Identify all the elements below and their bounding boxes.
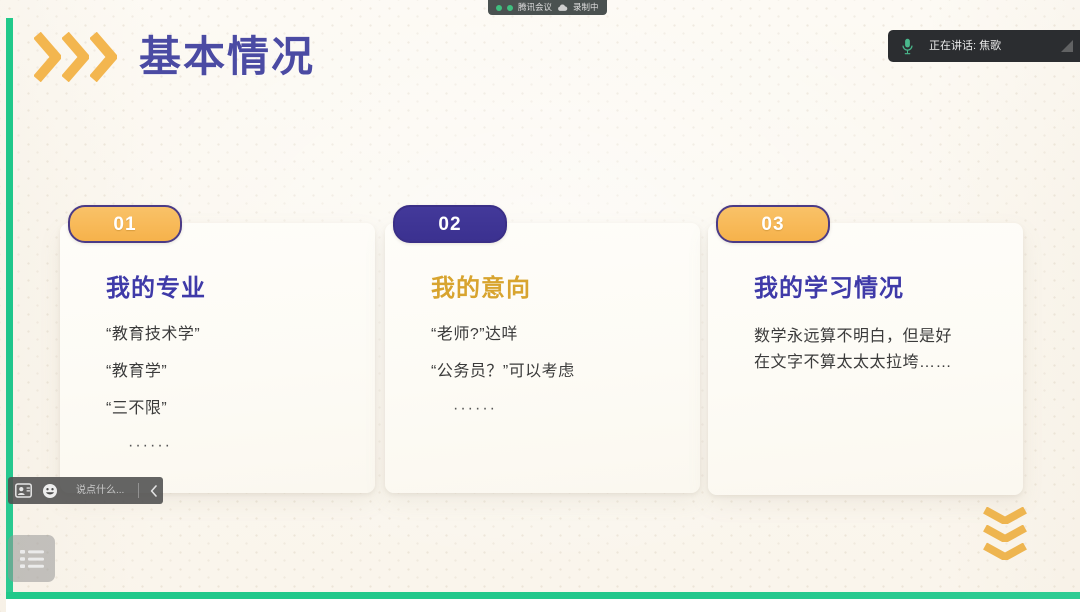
chevron-right-icon: [90, 32, 117, 82]
active-speaker-label: 正在讲话: 焦歌: [929, 41, 1001, 52]
chat-collapse-button[interactable]: [144, 477, 163, 504]
meeting-status-pill[interactable]: 腾讯会议 录制中: [488, 0, 607, 15]
accent-bar-bottom: [6, 592, 1080, 599]
active-speaker-bar: 正在讲话: 焦歌: [888, 30, 1080, 62]
card-number: 03: [761, 215, 784, 234]
chevron-left-icon: [150, 485, 158, 497]
chevron-right-icon: [34, 32, 61, 82]
slide-header: 基本情况: [34, 32, 315, 82]
card-row: 01 我的专业 “教育技术学” “教育学” “三不限” ······ 02 我的…: [0, 205, 1080, 505]
chevron-down-icon: [982, 507, 1028, 524]
card-line-ellipsis: ······: [453, 401, 684, 417]
card-line: 在文字不算太太太拉垮……: [754, 355, 1007, 371]
decorative-chevron-group: [982, 507, 1028, 560]
meeting-app-name: 腾讯会议: [518, 3, 552, 12]
chevron-down-icon: [982, 525, 1028, 542]
card-body-text: “教育技术学” “教育学” “三不限” ······: [106, 327, 359, 475]
card-number-badge: 03: [716, 205, 830, 243]
header-chevron-group: [34, 32, 117, 82]
contact-card-button[interactable]: [13, 480, 34, 501]
card-number-badge: 01: [68, 205, 182, 243]
card-body-text: 数学永远算不明白，但是好 在文字不算太太太拉垮……: [754, 329, 1007, 381]
card-number: 01: [113, 215, 136, 234]
card-title: 我的专业: [106, 277, 206, 301]
cloud-recording-icon: [557, 4, 568, 12]
emoji-picker-button[interactable]: [39, 480, 60, 501]
page-title: 基本情况: [139, 36, 315, 78]
window-corner-icon[interactable]: [1060, 39, 1074, 53]
participant-list-button[interactable]: [8, 535, 55, 582]
chat-divider: [138, 483, 139, 498]
card-line: “教育学”: [106, 364, 359, 380]
card-body-text: “老师?”达咩 “公务员？”可以考虑 ······: [431, 327, 684, 438]
card-number-badge: 02: [393, 205, 507, 243]
card-title: 我的意向: [431, 277, 531, 301]
card-number: 02: [438, 215, 461, 234]
card-line: “教育技术学”: [106, 327, 359, 343]
chat-input-field[interactable]: 说点什么...: [65, 486, 133, 496]
list-menu-icon: [20, 549, 44, 569]
contact-card-icon: [15, 483, 32, 498]
chevron-down-icon: [982, 543, 1028, 560]
microphone-icon: [902, 38, 913, 55]
slide-presentation-screen: 基本情况 01 我的专业 “教育技术学” “教育学” “三不限” ······ …: [0, 0, 1080, 612]
card-line: “公务员？”可以考虑: [431, 364, 684, 380]
smiley-face-icon: [42, 483, 58, 499]
card-line-ellipsis: ······: [128, 438, 359, 454]
card-line: “老师?”达咩: [431, 327, 684, 343]
status-dot: [507, 5, 513, 11]
card-line: “三不限”: [106, 401, 359, 417]
status-dot: [496, 5, 502, 11]
slide-bottom-margin: [6, 599, 1080, 612]
card-title: 我的学习情况: [754, 277, 904, 301]
recording-status-label: 录制中: [573, 3, 599, 12]
card-line: 数学永远算不明白，但是好: [754, 329, 1007, 345]
chevron-right-icon: [62, 32, 89, 82]
chat-input-bar[interactable]: 说点什么...: [8, 477, 163, 504]
